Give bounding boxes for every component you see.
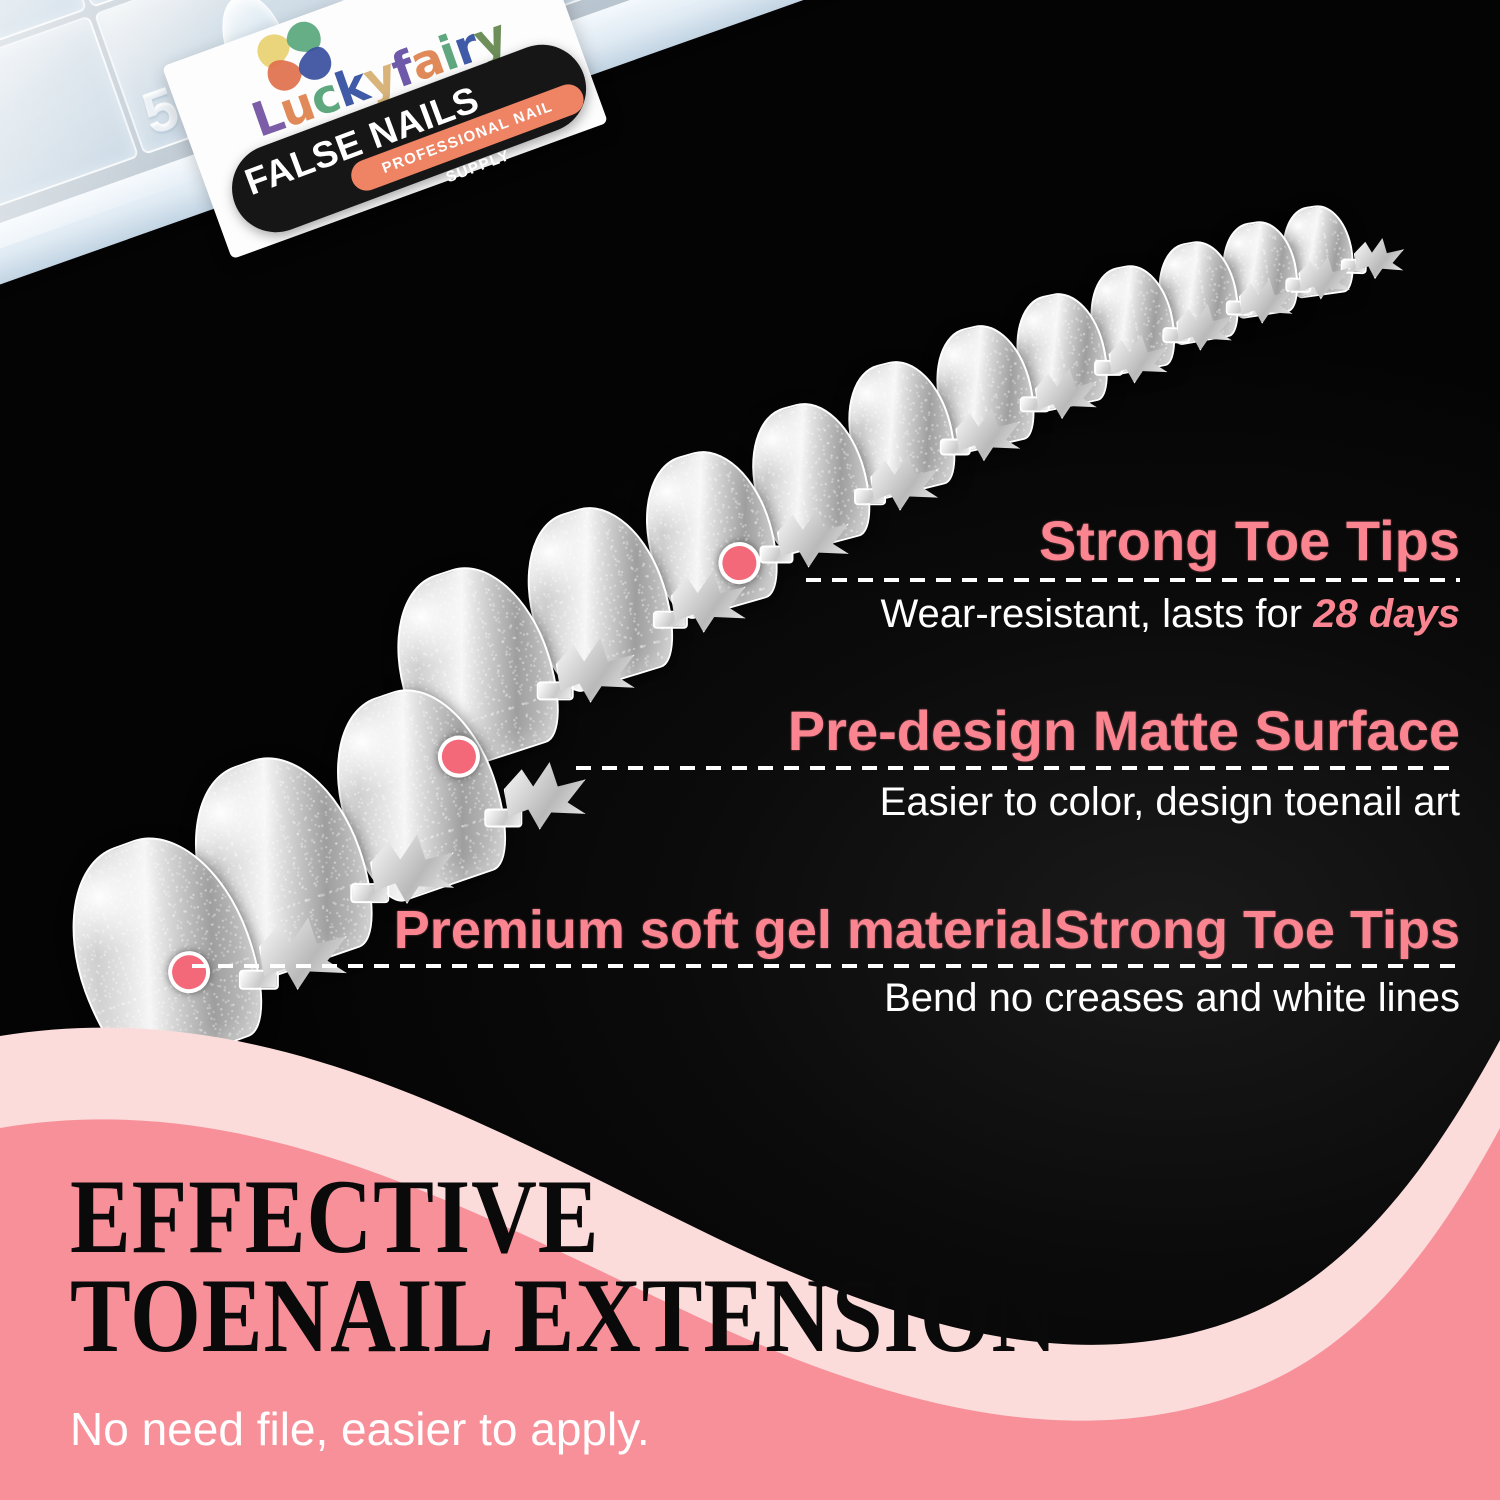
- bottom-wave-banner: EFFECTIVE TOENAIL EXTENSION No need file…: [0, 1000, 1500, 1500]
- banner-subline: No need file, easier to apply.: [70, 1402, 650, 1456]
- banner-headline: EFFECTIVE TOENAIL EXTENSION: [70, 1168, 1257, 1365]
- feature-callout-2-sub: Easier to color, design toenail art: [460, 780, 1460, 824]
- feature-subtitle-emphasis: 28 days: [1313, 592, 1460, 636]
- feature-callout-1: Strong Toe Tips: [560, 512, 1460, 571]
- callout-dashline-1: [806, 578, 1460, 582]
- callout-dashline-3: [192, 964, 1460, 968]
- feature-callout-1-sub: Wear-resistant, lasts for 28 days: [560, 592, 1460, 636]
- headline-banner: EFFECTIVE TOENAIL EXTENSION No need file…: [0, 1160, 1500, 1500]
- banner-headline-line2: TOENAIL EXTENSION: [70, 1267, 1257, 1366]
- feature-title: Strong Toe Tips: [560, 512, 1460, 571]
- feature-callout-2: Pre-design Matte Surface: [460, 702, 1460, 761]
- feature-callout-3: Premium soft gel materialStrong Toe Tips: [200, 902, 1460, 959]
- feature-subtitle-prefix: Easier to color, design toenail art: [880, 780, 1460, 824]
- feature-subtitle-prefix: Wear-resistant, lasts for: [881, 592, 1314, 636]
- feature-title: Pre-design Matte Surface: [460, 702, 1460, 761]
- product-infographic: 11 4 8: [0, 0, 1500, 1500]
- feature-subtitle: Wear-resistant, lasts for 28 days: [560, 592, 1460, 636]
- feature-title: Premium soft gel materialStrong Toe Tips: [200, 902, 1460, 959]
- callout-dashline-2: [576, 766, 1460, 770]
- feature-subtitle: Easier to color, design toenail art: [460, 780, 1460, 824]
